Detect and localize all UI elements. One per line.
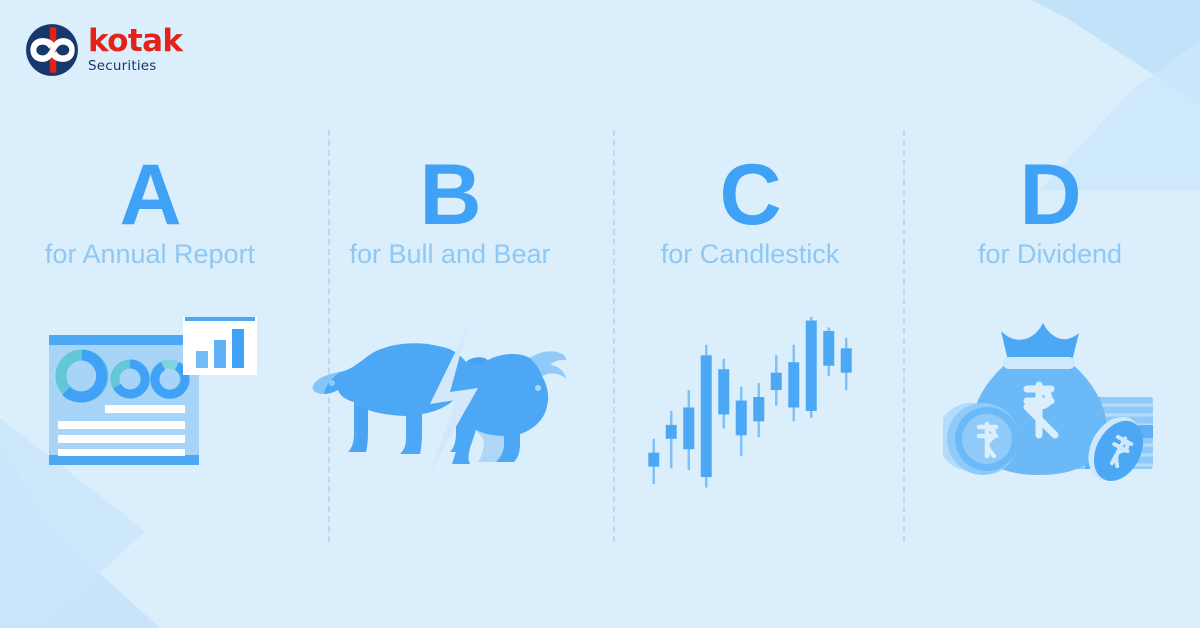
column-bull-and-bear: B for Bull and Bear [300,0,600,628]
column-dividend: D for Dividend [900,0,1200,628]
column-caption-d: for Dividend [900,240,1200,270]
candle-body [648,453,659,467]
candlestick-chart-icon [645,303,855,499]
annual-report-document-icon [35,309,265,494]
candle-body [806,320,817,410]
candle-body [701,355,712,477]
column-list: A for Annual Report [0,0,1200,628]
bull-and-bear-illustration [300,296,600,506]
candle-body [736,401,747,436]
candle-body [823,331,834,366]
infographic-canvas: kotak Securities A for Annual Report [0,0,1200,628]
column-letter-a: A [0,152,300,238]
bar-chart-card [183,317,257,375]
bull-and-bear-icon [310,326,590,476]
annual-report-illustration [0,296,300,506]
column-letter-d: D [900,152,1200,238]
column-caption-b: for Bull and Bear [300,240,600,270]
candle-body [753,397,764,421]
column-caption-a: for Annual Report [0,240,300,270]
candlestick-illustration [600,296,900,506]
column-annual-report: A for Annual Report [0,0,300,628]
money-bag-icon [943,309,1158,494]
column-letter-c: C [600,152,900,238]
dividend-illustration [900,296,1200,506]
candle-body [788,362,799,407]
column-caption-c: for Candlestick [600,240,900,270]
coin-stack-icon [943,403,1019,475]
column-letter-b: B [300,152,600,238]
column-candlestick: C for Candlestick [600,0,900,628]
candle-body [718,369,729,414]
candle-body [841,348,852,372]
candle-body [666,425,677,439]
candle-wick [670,411,672,468]
candle-body [683,407,694,449]
candle-body [771,373,782,390]
